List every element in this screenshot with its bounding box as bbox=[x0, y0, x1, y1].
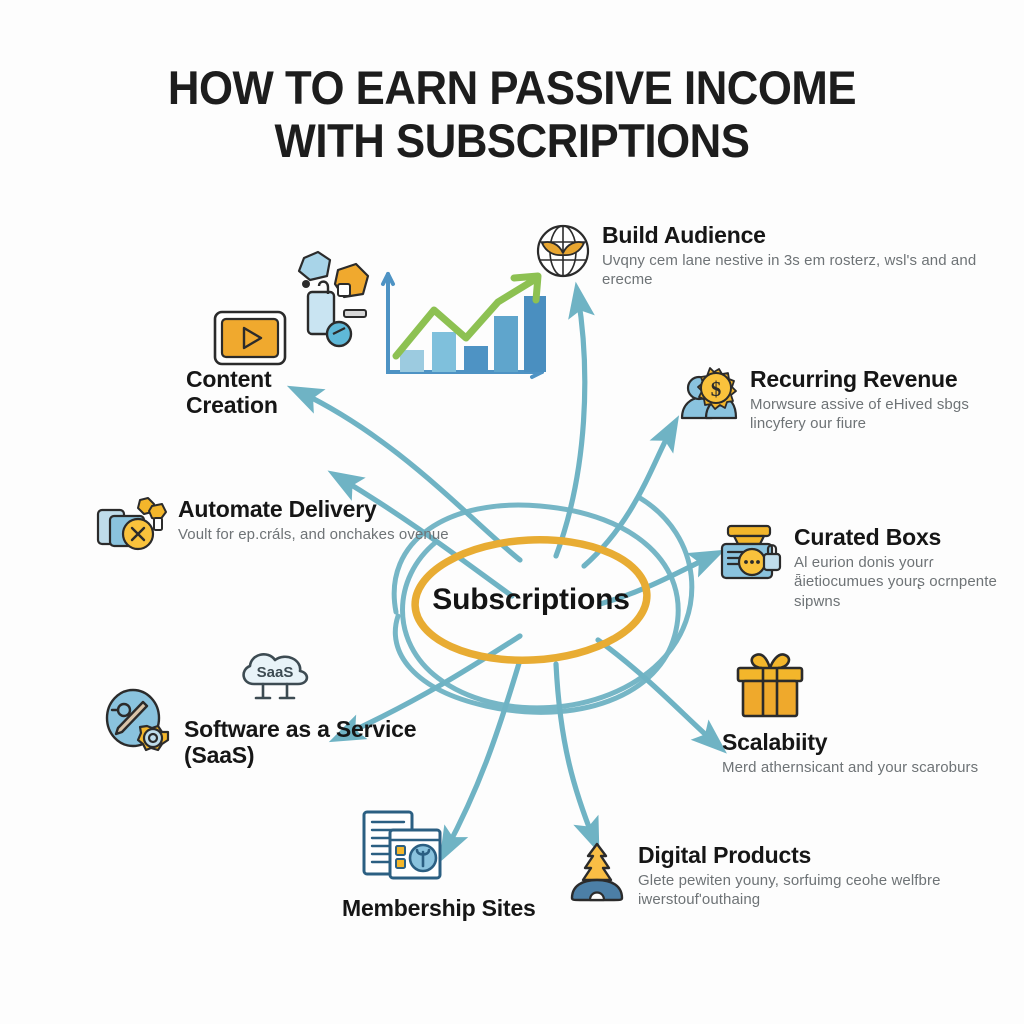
node-automate-delivery-title: Automate Delivery bbox=[178, 496, 449, 522]
arrow-to-build-audience bbox=[556, 296, 585, 556]
people-coin-icon: $ bbox=[678, 366, 740, 422]
node-software-as-a-service-title: Software as a Service(SaaS) bbox=[184, 694, 416, 768]
documents-settings-icon bbox=[360, 810, 444, 884]
node-build-audience-title: Build Audience bbox=[602, 222, 1024, 248]
node-membership-sites[interactable]: Membership Sites bbox=[342, 810, 536, 921]
node-build-audience[interactable]: Build Audience Uvqny cem lane nestive in… bbox=[534, 222, 1024, 290]
node-scalability-title: Scalabiity bbox=[722, 729, 978, 755]
saas-cloud-label: SaaS bbox=[257, 664, 294, 681]
curated-box-icon bbox=[718, 524, 784, 584]
node-software-as-a-service[interactable]: Software as a Service(SaaS) bbox=[102, 694, 416, 768]
node-digital-products[interactable]: Digital Products Glete pewiten youny, so… bbox=[566, 842, 1024, 910]
automation-money-icon bbox=[96, 496, 168, 560]
hub-label: Subscriptions bbox=[432, 583, 629, 617]
node-curated-boxs[interactable]: Curated Boxs Al eurion donis yourɾ ǟieti… bbox=[718, 524, 1024, 611]
node-curated-boxs-desc: Al eurion donis yourɾ ǟietiocumues yourʂ… bbox=[794, 553, 1024, 611]
node-digital-products-desc: Glete pewiten youny, sorfuimg ceohe welf… bbox=[638, 871, 1024, 909]
node-curated-boxs-title: Curated Boxs bbox=[794, 524, 1024, 550]
video-play-icon bbox=[212, 308, 288, 368]
infographic-canvas: HOW TO EARN PASSIVE INCOME WITH SUBSCRIP… bbox=[0, 0, 1024, 1024]
wrench-gear-icon bbox=[102, 688, 174, 760]
gift-box-icon bbox=[732, 648, 808, 720]
node-membership-sites-title: Membership Sites bbox=[342, 895, 536, 921]
node-scalability-desc: Merd athernsicant and your scaroburs bbox=[722, 758, 978, 777]
node-scalability[interactable]: Scalabiity Merd athernsicant and your sc… bbox=[722, 648, 978, 777]
digital-product-icon bbox=[566, 842, 628, 902]
node-automate-delivery-desc: Voult for ep.cráls, and onchakes ovenue bbox=[178, 525, 449, 544]
node-recurring-revenue[interactable]: $ Recurring Revenue Morwsure assive of e… bbox=[678, 366, 1024, 434]
node-content-creation-title: ContentCreation bbox=[186, 366, 278, 418]
node-digital-products-title: Digital Products bbox=[638, 842, 1024, 868]
arrow-to-digital-products bbox=[556, 664, 594, 840]
node-automate-delivery[interactable]: Automate Delivery Voult for ep.cráls, an… bbox=[96, 496, 449, 560]
abstract-shapes-icon bbox=[286, 246, 376, 356]
globe-seed-icon bbox=[534, 222, 592, 280]
node-build-audience-desc: Uvqny cem lane nestive in 3s em rosterz,… bbox=[602, 251, 1024, 289]
svg-text:$: $ bbox=[711, 377, 722, 401]
node-recurring-revenue-desc: Morwsure assive of eHived sbgs lincyfery… bbox=[750, 395, 1024, 433]
node-content-creation[interactable]: ContentCreation bbox=[186, 366, 278, 418]
node-recurring-revenue-title: Recurring Revenue bbox=[750, 366, 1024, 392]
growth-bar-chart-icon bbox=[374, 266, 550, 388]
